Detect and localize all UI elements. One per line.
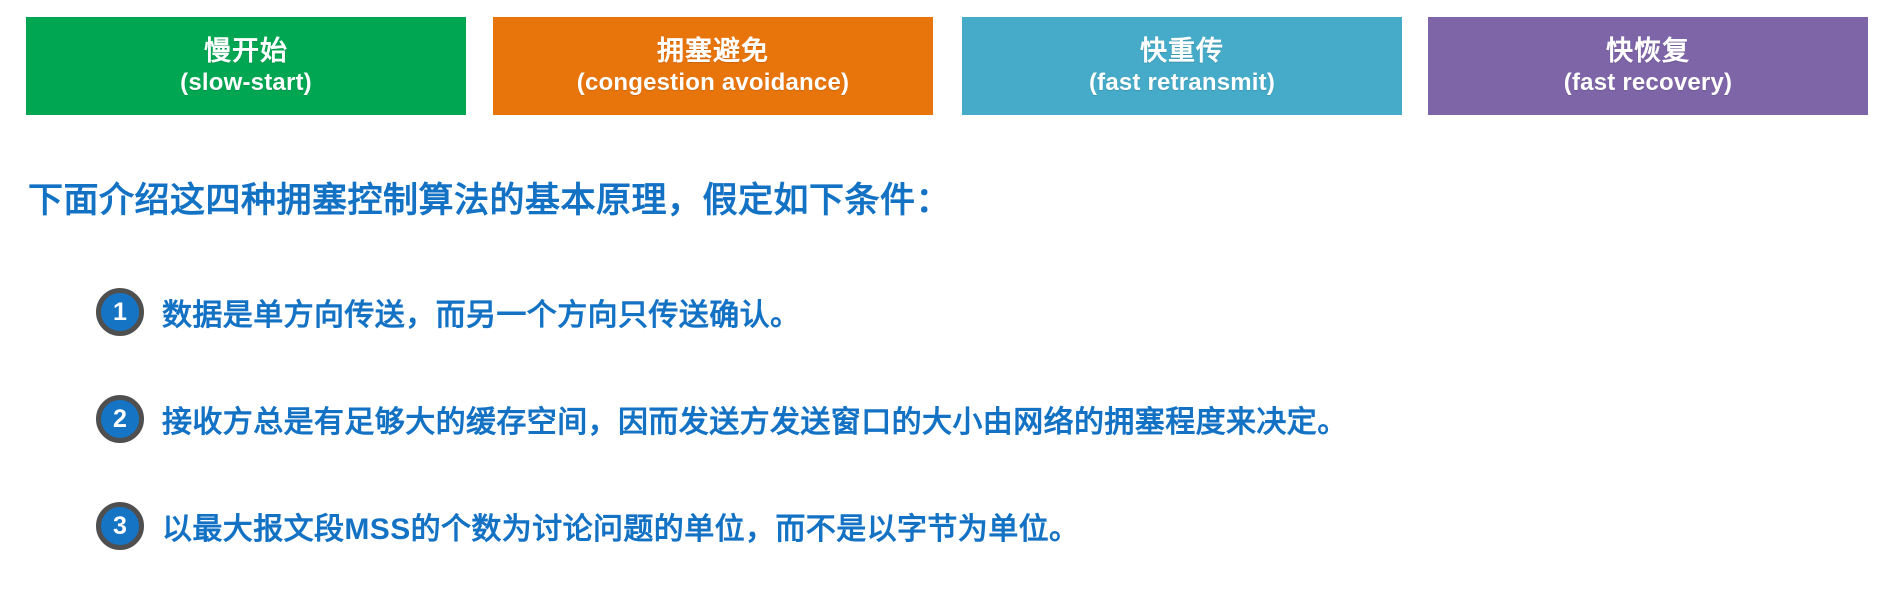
concept-title-cn: 拥塞避免 <box>657 37 769 65</box>
assumption-list: 1 数据是单方向传送，而另一个方向只传送确认。 2 接收方总是有足够大的缓存空间… <box>96 278 1876 599</box>
concept-box-fast-recovery: 快恢复 (fast recovery) <box>1428 17 1868 115</box>
concept-box-fast-retransmit: 快重传 (fast retransmit) <box>962 17 1402 115</box>
concept-boxes-row: 慢开始 (slow-start) 拥塞避免 (congestion avoida… <box>0 0 1883 130</box>
concept-box-slow-start: 慢开始 (slow-start) <box>26 17 466 115</box>
concept-title-en: (slow-start) <box>180 70 312 95</box>
assumption-text: 数据是单方向传送，而另一个方向只传送确认。 <box>162 290 800 334</box>
list-item: 1 数据是单方向传送，而另一个方向只传送确认。 <box>96 278 1876 346</box>
concept-title-cn: 快重传 <box>1140 37 1224 65</box>
assumption-text: 以最大报文段MSS的个数为讨论问题的单位，而不是以字节为单位。 <box>162 504 1079 548</box>
assumption-text: 接收方总是有足够大的缓存空间，因而发送方发送窗口的大小由网络的拥塞程度来决定。 <box>162 397 1348 441</box>
list-item: 2 接收方总是有足够大的缓存空间，因而发送方发送窗口的大小由网络的拥塞程度来决定… <box>96 385 1876 453</box>
concept-title-en: (congestion avoidance) <box>577 70 849 95</box>
number-badge-2: 2 <box>96 395 144 443</box>
number-badge-3: 3 <box>96 502 144 550</box>
concept-box-congestion-avoidance: 拥塞避免 (congestion avoidance) <box>493 17 933 115</box>
number-badge-1: 1 <box>96 288 144 336</box>
list-item: 3 以最大报文段MSS的个数为讨论问题的单位，而不是以字节为单位。 <box>96 492 1876 560</box>
concept-title-cn: 快恢复 <box>1606 37 1690 65</box>
concept-title-en: (fast recovery) <box>1564 70 1732 95</box>
concept-title-cn: 慢开始 <box>204 37 288 65</box>
concept-title-en: (fast retransmit) <box>1089 70 1275 95</box>
section-heading: 下面介绍这四种拥塞控制算法的基本原理，假定如下条件： <box>28 172 951 223</box>
